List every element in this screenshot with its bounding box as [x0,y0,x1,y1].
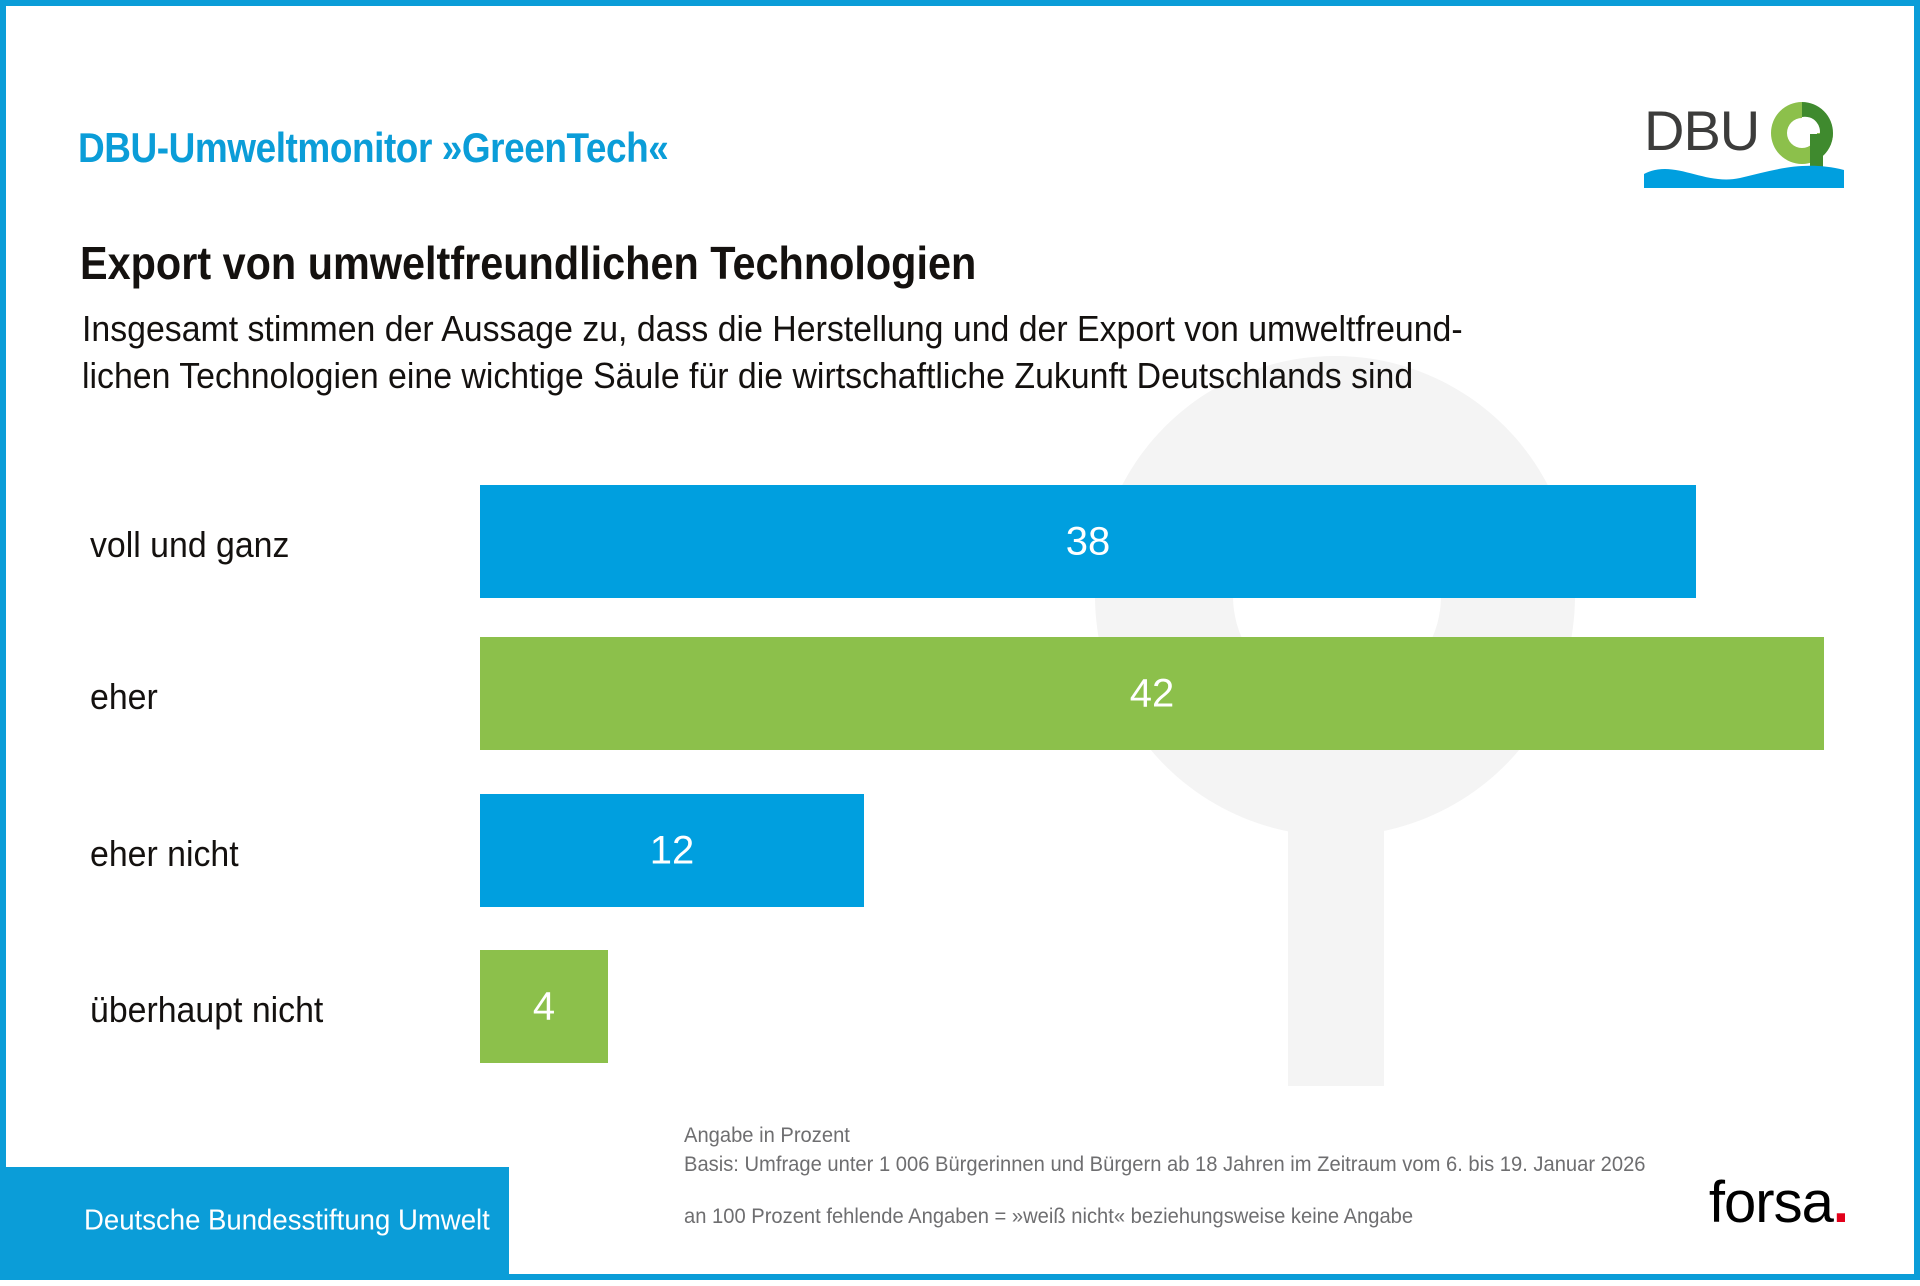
bar-value-label: 42 [1130,671,1175,716]
forsa-wordmark: forsa [1709,1170,1833,1235]
bar-value-label: 12 [650,828,695,873]
page-title: Export von umweltfreundlichen Technologi… [80,236,976,290]
subtitle-line-2: lichen Technologien eine wichtige Säule … [82,353,1492,400]
bar-row: überhaupt nicht 4 [6,950,1920,1070]
footer-organisation-label: Deutsche Bundesstiftung Umwelt [84,1204,490,1237]
page-subtitle: Insgesamt stimmen der Aussage zu, dass d… [82,306,1492,400]
note-basis: Basis: Umfrage unter 1 006 Bürgerinnen u… [684,1150,1646,1180]
bar-row: eher nicht 12 [6,794,1920,914]
bar-chart: voll und ganz 38 eher 42 eher nicht 12 ü… [6,6,1920,1286]
poster-page: DBU-Umweltmonitor »GreenTech« DBU Export… [0,0,1920,1280]
bar-row: voll und ganz 38 [6,485,1920,605]
bar-value-label: 38 [1066,519,1111,564]
note-missing: an 100 Prozent fehlende Angaben = »weiß … [684,1202,1646,1232]
note-unit: Angabe in Prozent [684,1121,1646,1151]
bar-voll-und-ganz: 38 [480,485,1696,598]
footer-notes: Angabe in Prozent Basis: Umfrage unter 1… [684,1121,1646,1232]
note-spacer [684,1180,1646,1202]
footer-organisation-bar: Deutsche Bundesstiftung Umwelt [6,1167,509,1274]
bar-eher: 42 [480,637,1824,750]
subtitle-line-1: Insgesamt stimmen der Aussage zu, dass d… [82,306,1492,353]
kicker-title: DBU-Umweltmonitor »GreenTech« [78,124,668,172]
bar-row: eher 42 [6,637,1920,757]
forsa-dot: . [1833,1170,1848,1235]
bar-ueberhaupt-nicht: 4 [480,950,608,1063]
bar-category-label: eher [90,676,158,718]
bar-value-label: 4 [533,984,555,1029]
bar-category-label: voll und ganz [90,524,289,566]
bar-eher-nicht: 12 [480,794,864,907]
dbu-logo: DBU [1644,92,1844,188]
bar-category-label: eher nicht [90,833,239,875]
bar-category-label: überhaupt nicht [90,989,323,1031]
forsa-logo: forsa. [1709,1174,1848,1232]
svg-text:DBU: DBU [1644,99,1759,162]
